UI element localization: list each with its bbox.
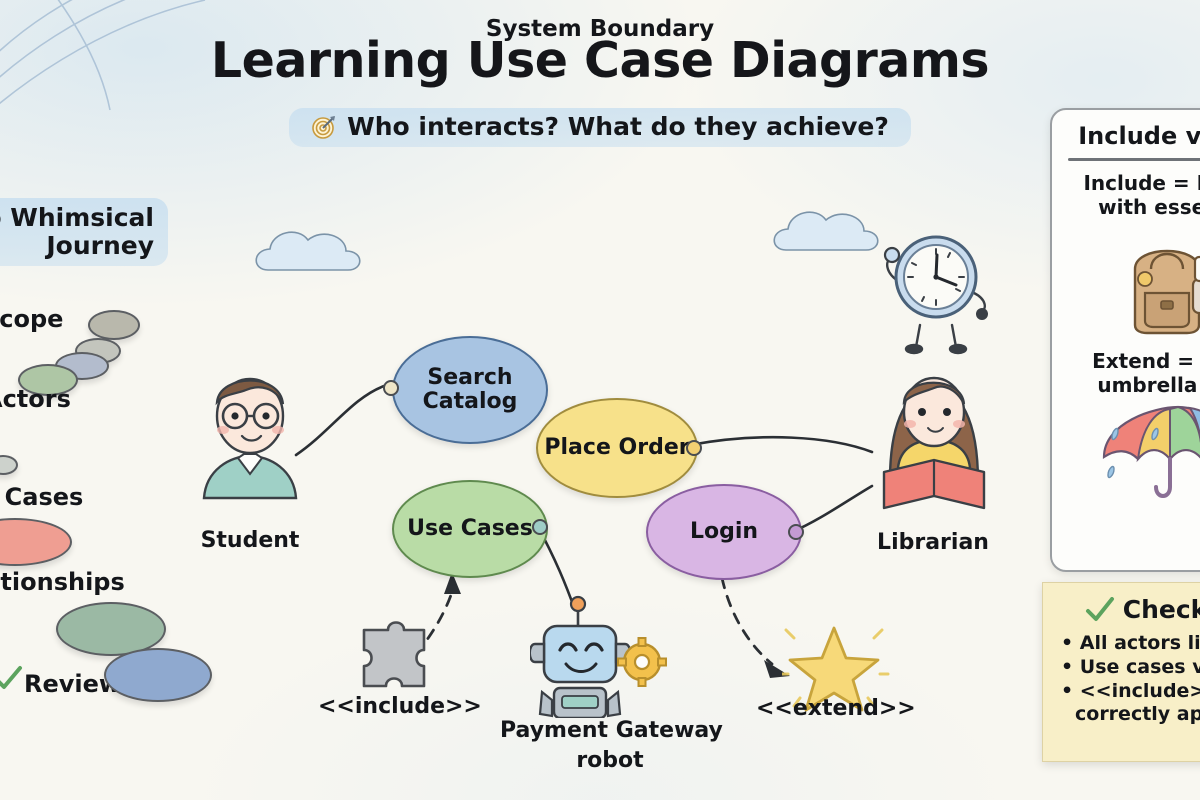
actor-label-librarian: Librarian bbox=[868, 530, 998, 555]
page-subtitle-text: Who interacts? What do they achieve? bbox=[347, 112, 889, 141]
subtitle-highlight: Who interacts? What do they achieve? bbox=[289, 108, 911, 147]
journey-step-scope: Scope bbox=[0, 305, 63, 333]
page-subtitle-row: Who interacts? What do they achieve? bbox=[311, 112, 889, 141]
extend-text-line2: umbrella for bbox=[1052, 373, 1200, 397]
umbrella-icon bbox=[1092, 401, 1200, 509]
use-case-label: Login bbox=[690, 520, 758, 544]
use-case-use-cases[interactable]: Use Cases bbox=[392, 480, 548, 578]
use-case-place-order[interactable]: Place Order bbox=[536, 398, 698, 498]
checklist-item-text: All actors linked? bbox=[1080, 632, 1200, 654]
backpack-icon bbox=[1107, 227, 1200, 337]
journey-step-use-cases: e Cases bbox=[0, 483, 83, 511]
use-case-label: Place Order bbox=[544, 436, 689, 460]
checklist-item: • <<include>>/<<ex bbox=[1061, 680, 1200, 704]
actor-label-student: Student bbox=[190, 528, 310, 553]
check-icon bbox=[0, 664, 24, 694]
stepping-stone bbox=[88, 310, 140, 340]
check-icon bbox=[1085, 597, 1115, 623]
use-case-login[interactable]: Login bbox=[646, 484, 802, 580]
checklist-item: • All actors linked? bbox=[1061, 632, 1200, 656]
journey-step-actors: Actors bbox=[0, 385, 71, 413]
card-title: Include vs Ex bbox=[1052, 110, 1200, 158]
use-case-label: Use Cases bbox=[407, 517, 533, 541]
stereotype-extend-label: <<extend>> bbox=[756, 696, 916, 721]
checklist-note: Checklist • All actors linked? • Use cas… bbox=[1042, 582, 1200, 762]
use-case-label: Search Catalog bbox=[394, 366, 546, 414]
system-boundary-title: System Boundary bbox=[0, 16, 1200, 42]
connection-dot bbox=[532, 519, 548, 535]
puzzle-piece-icon bbox=[348, 616, 434, 696]
include-vs-extend-card: Include vs Ex Include = Back with essent… bbox=[1050, 108, 1200, 572]
checklist-item-continuation: correctly applied bbox=[1061, 703, 1200, 727]
checklist-item-text: <<include>>/<<ex bbox=[1080, 680, 1200, 702]
page-subtitle-wrap: Who interacts? What do they achieve? bbox=[0, 108, 1200, 147]
journey-heading: ep Whimsical Journey bbox=[0, 198, 168, 266]
journey-heading-text: ep Whimsical Journey bbox=[0, 198, 168, 266]
robot-label-line2: robot bbox=[500, 748, 720, 773]
robot-icon bbox=[530, 588, 690, 718]
checklist-item: • Use cases verb-l bbox=[1061, 656, 1200, 680]
librarian-avatar bbox=[868, 360, 998, 520]
illustration-canvas: Learning Use Case Diagrams Who interacts… bbox=[0, 0, 1200, 800]
student-avatar bbox=[190, 358, 310, 508]
stepping-stone bbox=[104, 648, 212, 702]
connection-dot bbox=[788, 524, 804, 540]
robot-label-line1: Payment Gateway bbox=[500, 718, 720, 743]
waving-clock-icon bbox=[880, 215, 1010, 355]
cloud-icon bbox=[768, 198, 898, 268]
journey-step-relationships: lationships bbox=[0, 568, 125, 596]
include-text-line1: Include = Back bbox=[1052, 171, 1200, 195]
card-divider bbox=[1068, 158, 1200, 161]
checklist-title: Checklist bbox=[1123, 595, 1200, 624]
extend-text-line1: Extend = Opt bbox=[1052, 349, 1200, 373]
checklist-title-row: Checklist bbox=[1043, 583, 1200, 632]
target-icon bbox=[311, 114, 337, 140]
use-case-search-catalog[interactable]: Search Catalog bbox=[392, 336, 548, 444]
connection-dot bbox=[383, 380, 399, 396]
stereotype-include-label: <<include>> bbox=[318, 694, 482, 719]
checklist-item-text: Use cases verb-l bbox=[1080, 656, 1200, 678]
cloud-icon bbox=[250, 218, 380, 288]
connection-dot bbox=[686, 440, 702, 456]
include-text-line2: with essenti bbox=[1052, 195, 1200, 219]
